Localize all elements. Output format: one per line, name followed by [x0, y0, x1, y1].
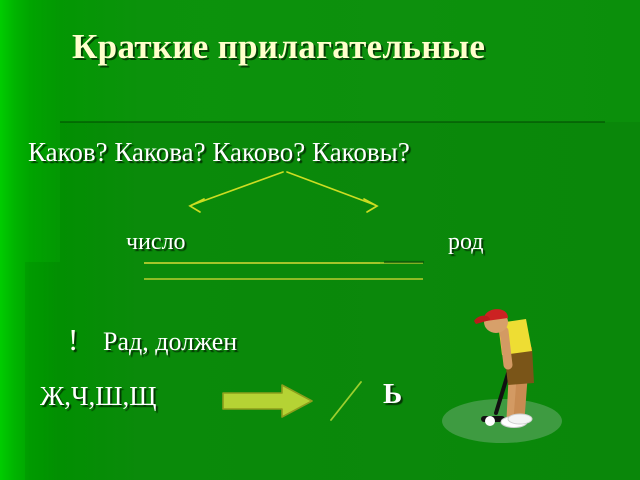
golfer-putting-illustration	[440, 295, 640, 455]
hissing-consonants: Ж,Ч,Ш,Щ	[40, 381, 156, 412]
branch-label-number: число	[126, 229, 186, 256]
branch-label-gender: род	[448, 229, 484, 256]
diagonal-strike-icon	[325, 374, 373, 426]
exclamation-mark: !	[68, 322, 78, 358]
diverging-arrows-icon	[175, 168, 395, 214]
example-words: Рад, должен	[103, 327, 237, 357]
slide-canvas: Краткие прилагательные Каков? Какова? Ка…	[0, 0, 640, 480]
panel-top-divider	[60, 121, 605, 123]
rule-lines	[140, 256, 430, 286]
question-line: Каков? Какова? Каково? Каковы?	[28, 137, 410, 168]
page-title: Краткие прилагательные	[72, 26, 492, 67]
soft-sign-letter: Ь	[383, 378, 402, 411]
right-block-arrow-icon	[222, 383, 314, 421]
